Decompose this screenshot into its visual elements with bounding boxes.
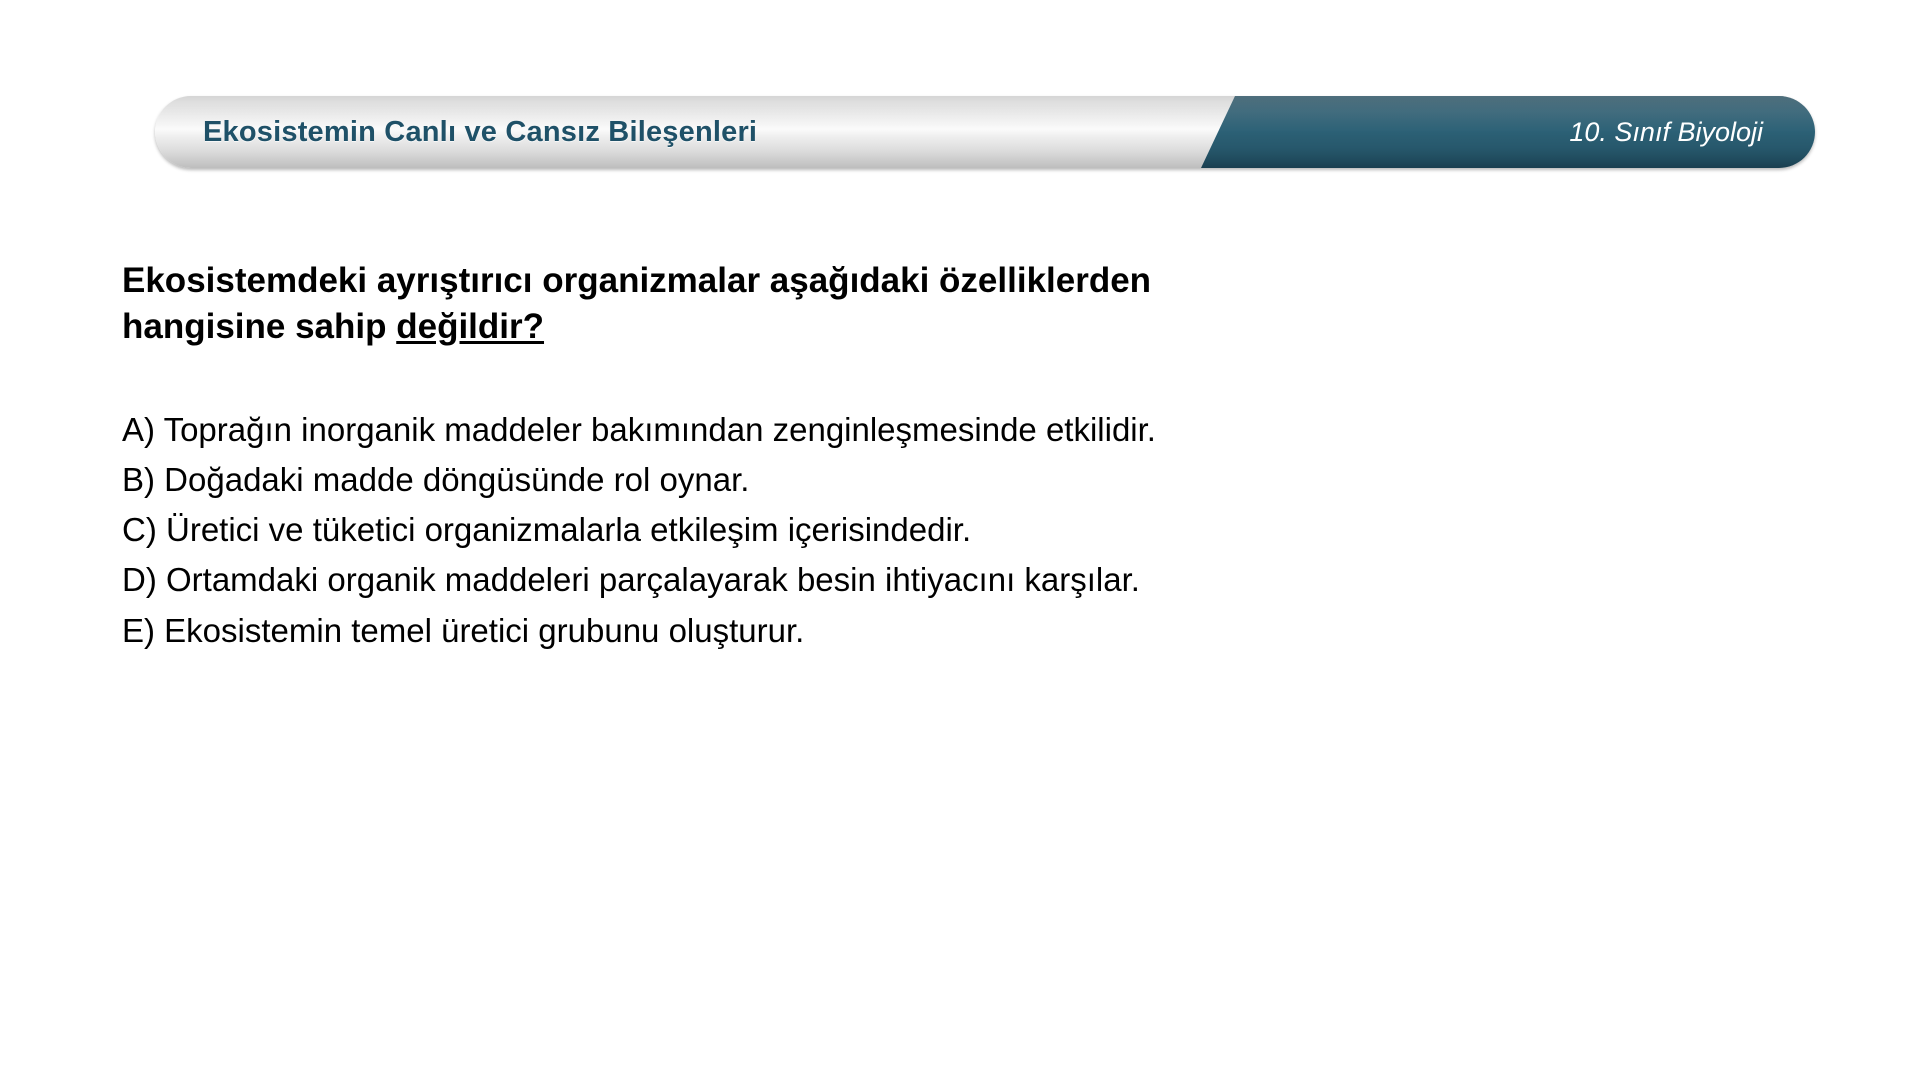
slide-canvas: Ekosistemin Canlı ve Cansız Bileşenleri …	[0, 0, 1920, 1080]
question-line-1: Ekosistemdeki ayrıştırıcı organizmalar a…	[122, 261, 1151, 300]
option-text-d: Ortamdaki organik maddeleri parçalayarak…	[166, 561, 1140, 598]
question-negation-word: değildir?	[396, 307, 544, 346]
option-letter-a: A)	[122, 411, 155, 448]
option-item-b[interactable]: B) Doğadaki madde döngüsünde rol oynar.	[122, 455, 1822, 505]
option-letter-e: E)	[122, 612, 155, 649]
option-letter-b: B)	[122, 461, 155, 498]
question-content: Ekosistemdeki ayrıştırıcı organizmalar a…	[122, 258, 1822, 656]
option-letter-d: D)	[122, 561, 157, 598]
option-letter-c: C)	[122, 511, 157, 548]
options-list: A) Toprağın inorganik maddeler bakımında…	[122, 405, 1822, 656]
option-item-a[interactable]: A) Toprağın inorganik maddeler bakımında…	[122, 405, 1822, 455]
option-text-c: Üretici ve tüketici organizmalarla etkil…	[166, 511, 971, 548]
header-banner: Ekosistemin Canlı ve Cansız Bileşenleri …	[155, 96, 1815, 168]
option-text-a: Toprağın inorganik maddeler bakımından z…	[164, 411, 1156, 448]
option-item-d[interactable]: D) Ortamdaki organik maddeleri parçalaya…	[122, 555, 1822, 605]
option-text-b: Doğadaki madde döngüsünde rol oynar.	[164, 461, 749, 498]
banner-subject-label: 10. Sınıf Biyoloji	[1569, 96, 1763, 168]
option-item-c[interactable]: C) Üretici ve tüketici organizmalarla et…	[122, 505, 1822, 555]
option-text-e: Ekosistemin temel üretici grubunu oluştu…	[164, 612, 804, 649]
banner-topic-title: Ekosistemin Canlı ve Cansız Bileşenleri	[203, 96, 757, 168]
question-line-2-prefix: hangisine sahip	[122, 307, 396, 346]
question-text: Ekosistemdeki ayrıştırıcı organizmalar a…	[122, 258, 1582, 349]
option-item-e[interactable]: E) Ekosistemin temel üretici grubunu olu…	[122, 606, 1822, 656]
